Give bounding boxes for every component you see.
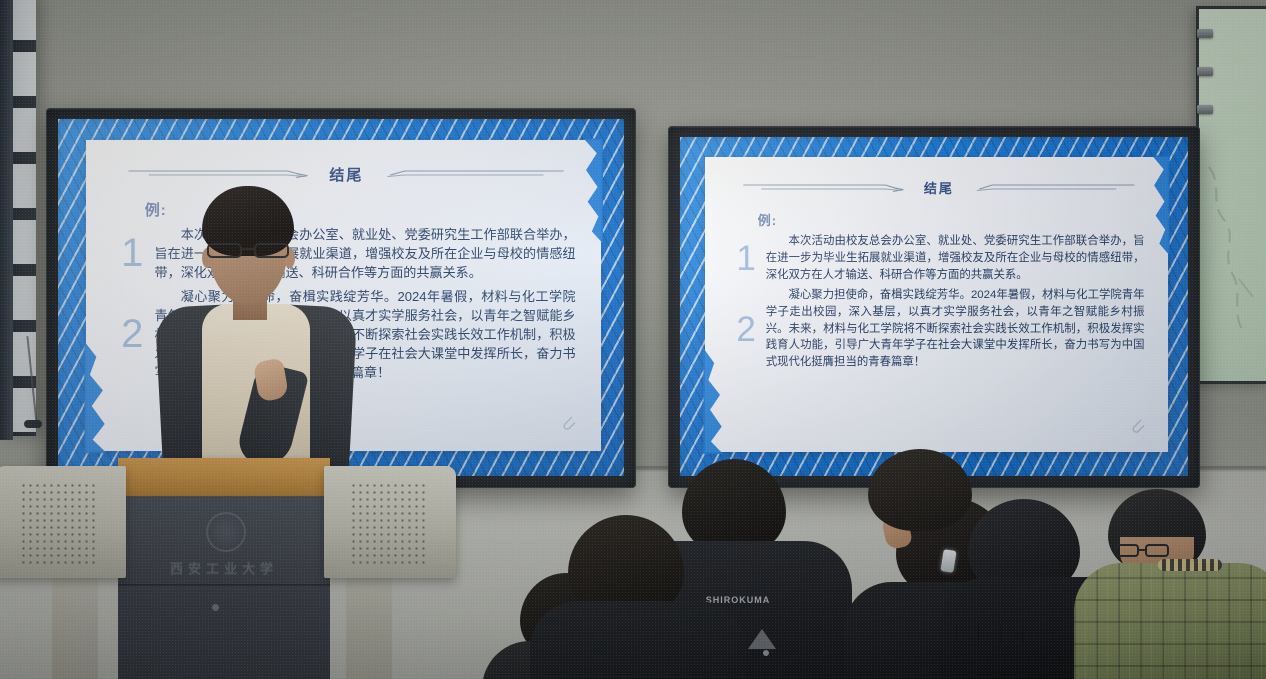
- board-clip-icon: [1197, 29, 1213, 38]
- podium: 西安工业大学: [0, 458, 460, 679]
- jacket-collar-trim: [1158, 559, 1222, 571]
- slide-title: 结尾: [329, 164, 363, 185]
- audience-plaid-jacket: [1074, 563, 1266, 679]
- title-flourish-left-icon: [733, 181, 914, 195]
- podium-panel-seam: [118, 584, 330, 588]
- paragraph-number: 1: [733, 241, 759, 276]
- podium-speaker-left: [0, 466, 126, 578]
- glasses-icon: [206, 242, 290, 259]
- paragraph-number: 2: [733, 312, 759, 347]
- speaker-grille-icon: [20, 482, 98, 564]
- right-display[interactable]: 结尾 例: 1 本次活动由校友总会办公室、就业处、党委研究生工作部联合举办，旨在…: [668, 126, 1200, 488]
- audience-member-6: [1084, 489, 1266, 679]
- paragraph-text: 本次活动由校友总会办公室、就业处、党委研究生工作部联合举办，旨在进一步为毕业生拓…: [766, 233, 1145, 283]
- right-screen: 结尾 例: 1 本次活动由校友总会办公室、就业处、党委研究生工作部联合举办，旨在…: [680, 137, 1188, 476]
- board-clip-icon: [1197, 105, 1213, 114]
- podium-leg: [346, 570, 392, 679]
- podium-leg: [52, 570, 98, 679]
- slide-paragraph-2: 2 凝心聚力担使命，奋楫实践绽芳华。2024年暑假，材料与化工学院青年学子走出校…: [733, 287, 1144, 370]
- slide-paper-card: 结尾 例: 1 本次活动由校友总会办公室、就业处、党委研究生工作部联合举办，旨在…: [705, 157, 1167, 452]
- audience-body: [530, 601, 746, 679]
- speaker-grille-icon: [350, 482, 428, 564]
- paragraph-number: 2: [117, 314, 147, 354]
- paragraph-text: 凝心聚力担使命，奋楫实践绽芳华。2024年暑假，材料与化工学院青年学子走出校园，…: [766, 287, 1145, 370]
- board-chalk-marks: [1203, 159, 1263, 349]
- title-flourish-right-icon: [964, 181, 1145, 195]
- title-flourish-left-icon: [117, 167, 319, 181]
- audience-head: [868, 449, 972, 531]
- podium-wood-top: [118, 458, 330, 498]
- example-label: 例:: [758, 210, 1145, 229]
- paperclip-icon: [1127, 415, 1147, 435]
- jacket-reflective-patch: [956, 625, 1026, 643]
- podium-speaker-right: [324, 466, 456, 578]
- lecture-hall-scene: 结尾 例: 1 本次活动由校友总会办公室、就业处、党委研究生工作部联合举办，旨在…: [0, 0, 1266, 679]
- ceiling-shadow: [0, 0, 1266, 118]
- podium-institution-name: 西安工业大学: [118, 558, 330, 577]
- audience-member-3: [558, 509, 738, 679]
- paperclip-icon: [558, 412, 578, 432]
- paragraph-number: 1: [117, 233, 147, 273]
- title-flourish-right-icon: [373, 167, 575, 181]
- green-board: [1196, 6, 1266, 384]
- slide-title: 结尾: [924, 178, 954, 197]
- board-clip-icon: [1197, 67, 1213, 76]
- university-emblem-icon: [206, 512, 246, 552]
- slide-title-row: 结尾: [733, 178, 1144, 197]
- slide-paragraph-1: 1 本次活动由校友总会办公室、就业处、党委研究生工作部联合举办，旨在进一步为毕业…: [733, 233, 1144, 283]
- blind-frame: [0, 0, 13, 440]
- glasses-icon: [1114, 543, 1170, 559]
- slide-title-row: 结尾: [117, 164, 575, 185]
- blind-cord-knob[interactable]: [24, 420, 42, 428]
- podium-knob[interactable]: [212, 604, 219, 611]
